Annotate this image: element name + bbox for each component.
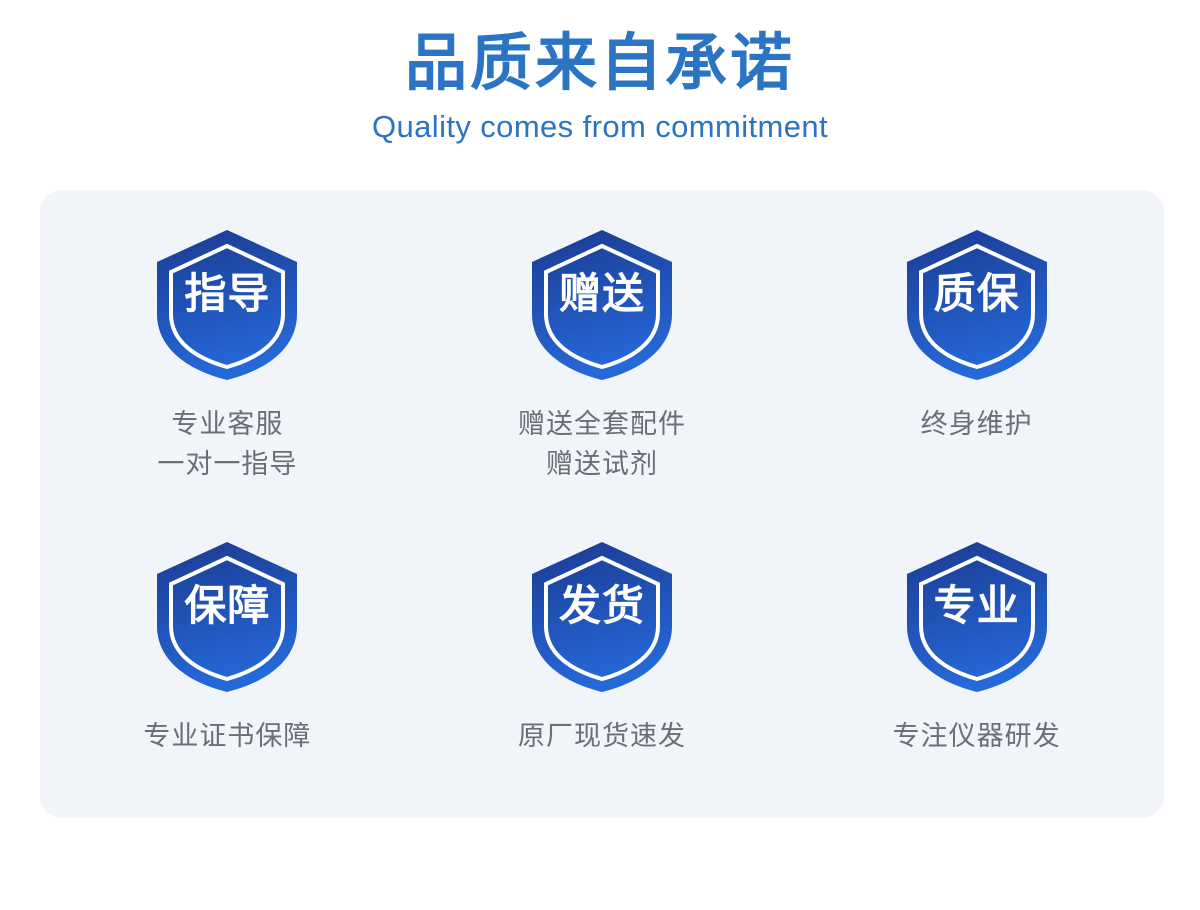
shield-badge: 保障 <box>153 540 301 694</box>
shield-badge: 赠送 <box>528 228 676 382</box>
feature-item-保障[interactable]: 保障 专业证书保障 <box>40 508 415 818</box>
feature-item-质保[interactable]: 质保 终身维护 <box>789 190 1164 508</box>
feature-item-指导[interactable]: 指导 专业客服一对一指导 <box>40 190 415 508</box>
caption-line: 赠送全套配件 <box>518 404 686 444</box>
shield-label: 赠送 <box>528 228 676 382</box>
page-subtitle: Quality comes from commitment <box>0 108 1200 146</box>
caption-line: 终身维护 <box>921 404 1033 444</box>
shield-label: 发货 <box>528 540 676 694</box>
promo-page: 品质来自承诺 Quality comes from commitment 指导 … <box>0 0 1200 910</box>
features-grid: 指导 专业客服一对一指导 赠送 赠送全套配件赠送试剂 <box>40 190 1164 818</box>
shield-label: 质保 <box>903 228 1051 382</box>
feature-caption: 专业证书保障 <box>143 716 311 756</box>
feature-item-专业[interactable]: 专业 专注仪器研发 <box>789 508 1164 818</box>
feature-caption: 原厂现货速发 <box>518 716 686 756</box>
shield-badge: 质保 <box>903 228 1051 382</box>
feature-caption: 专注仪器研发 <box>893 716 1061 756</box>
caption-line: 专注仪器研发 <box>893 716 1061 756</box>
feature-caption: 专业客服一对一指导 <box>157 404 297 484</box>
caption-line: 一对一指导 <box>157 444 297 484</box>
shield-badge: 发货 <box>528 540 676 694</box>
page-title: 品质来自承诺 <box>0 26 1200 102</box>
feature-caption: 赠送全套配件赠送试剂 <box>518 404 686 484</box>
feature-item-发货[interactable]: 发货 原厂现货速发 <box>415 508 790 818</box>
shield-label: 保障 <box>153 540 301 694</box>
shield-badge: 专业 <box>903 540 1051 694</box>
feature-item-赠送[interactable]: 赠送 赠送全套配件赠送试剂 <box>415 190 790 508</box>
shield-badge: 指导 <box>153 228 301 382</box>
page-header: 品质来自承诺 Quality comes from commitment <box>0 26 1200 146</box>
shield-label: 指导 <box>153 228 301 382</box>
feature-caption: 终身维护 <box>921 404 1033 444</box>
caption-line: 专业客服 <box>157 404 297 444</box>
caption-line: 赠送试剂 <box>518 444 686 484</box>
features-panel: 指导 专业客服一对一指导 赠送 赠送全套配件赠送试剂 <box>40 190 1164 818</box>
caption-line: 原厂现货速发 <box>518 716 686 756</box>
shield-label: 专业 <box>903 540 1051 694</box>
caption-line: 专业证书保障 <box>143 716 311 756</box>
